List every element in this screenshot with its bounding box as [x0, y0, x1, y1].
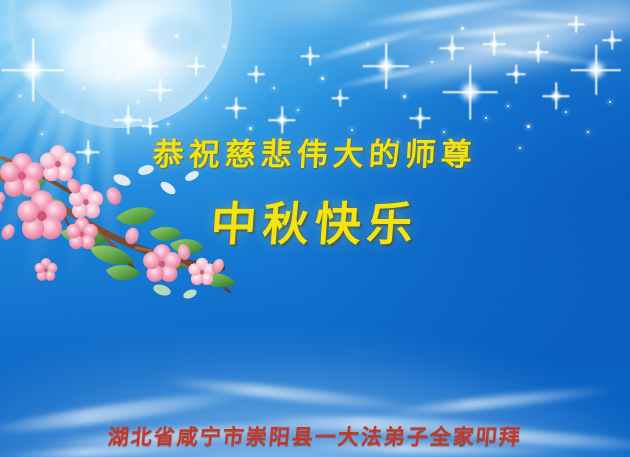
greeting-line: 恭祝慈悲伟大的师尊: [0, 129, 630, 174]
sparkle-star-icon: [608, 36, 617, 45]
sparkle-dot: [431, 61, 434, 64]
sparkle-dot: [367, 43, 369, 45]
mist-streak: [380, 383, 620, 419]
festival-title: 中秋快乐: [0, 188, 630, 254]
sparkle-dot: [547, 35, 549, 37]
sparkle-dot: [321, 77, 324, 80]
sparkle-star-icon: [584, 58, 608, 82]
cloud-wisp: [365, 17, 548, 109]
sparkle-star-icon: [489, 39, 500, 50]
sparkle-star-icon: [572, 20, 580, 28]
cloud-streak: [486, 9, 630, 24]
cloud-streak: [400, 16, 630, 43]
cloud-streak: [353, 0, 552, 31]
sparkle-dot: [507, 105, 509, 107]
sparkle-dot: [565, 111, 568, 114]
sparkle-dot: [609, 101, 612, 104]
cloud-streak: [438, 40, 627, 69]
sparkle-star-icon: [276, 114, 289, 127]
sparkle-star-icon: [512, 70, 521, 79]
signature-line: 湖北省咸宁市崇阳县一大法弟子全家叩拜: [0, 421, 630, 451]
mist-streak: [160, 374, 420, 413]
sparkle-star-icon: [533, 47, 543, 57]
cloud-wisp: [323, 0, 630, 108]
sparkle-dot: [403, 95, 406, 98]
sparkle-star-icon: [375, 55, 397, 77]
cloud-wisp: [426, 0, 630, 98]
greeting-card: 恭祝慈悲伟大的师尊 中秋快乐 湖北省咸宁市崇阳县一大法弟子全家叩拜: [0, 0, 630, 457]
cloud-streak: [302, 19, 448, 66]
sparkle-star-icon: [336, 94, 344, 102]
sparkle-dot: [485, 117, 488, 120]
sparkle-star-icon: [415, 113, 425, 123]
moon-icon: [8, 0, 232, 128]
cloud-wisp: [554, 0, 630, 47]
sparkle-star-icon: [550, 90, 563, 103]
sparkle-dot: [527, 125, 530, 128]
cloud-streak: [331, 59, 459, 91]
sparkle-dot: [461, 27, 464, 30]
sparkle-dot: [297, 109, 299, 111]
sparkle-star-icon: [446, 42, 458, 54]
sparkle-star-icon: [306, 52, 315, 61]
sparkle-star-icon: [457, 79, 483, 105]
